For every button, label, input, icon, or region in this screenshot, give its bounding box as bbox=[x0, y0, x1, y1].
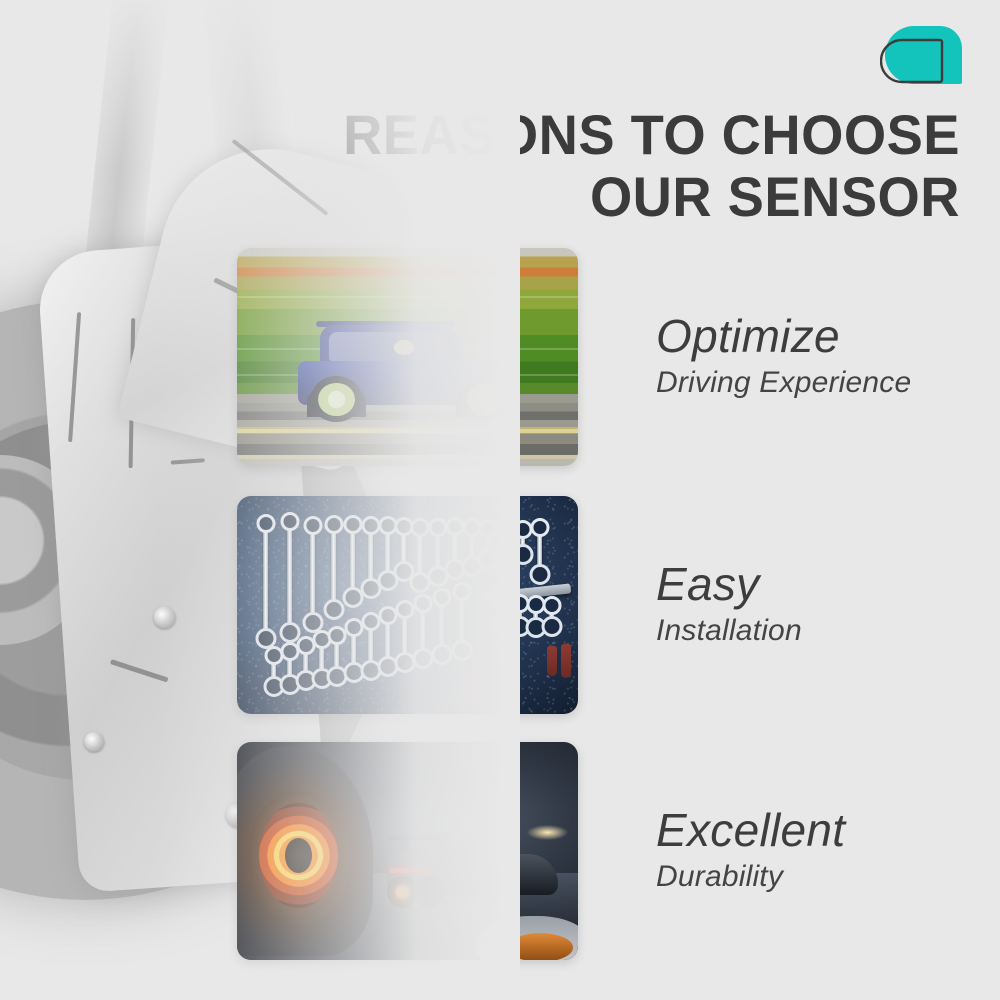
feature-label-2: Easy Installation bbox=[656, 561, 802, 649]
feature-label-3: Excellent Durability bbox=[656, 807, 845, 895]
brand-logo[interactable] bbox=[880, 18, 976, 104]
infographic-canvas: REASONS TO CHOOSE OUR SENSOR bbox=[0, 0, 1000, 1000]
feature-headline: Excellent bbox=[656, 807, 845, 855]
feature-headline: Easy bbox=[656, 561, 802, 609]
logo-teal-shape bbox=[885, 26, 962, 84]
feature-label-1: Optimize Driving Experience bbox=[656, 313, 911, 401]
feature-subline: Driving Experience bbox=[656, 365, 911, 401]
background-right-fade bbox=[0, 0, 520, 1000]
feature-subline: Installation bbox=[656, 613, 802, 649]
feature-headline: Optimize bbox=[656, 313, 911, 361]
feature-subline: Durability bbox=[656, 859, 845, 895]
background-brake-artwork bbox=[0, 0, 520, 1000]
